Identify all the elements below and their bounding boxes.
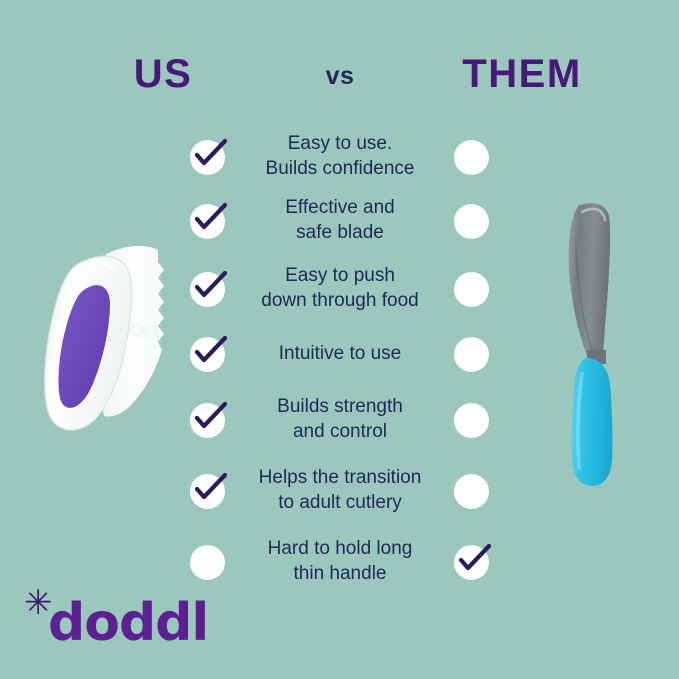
doddl-logo: ✳ doddl <box>18 590 198 656</box>
them-mark-cell <box>449 133 495 179</box>
mark-circle <box>190 337 225 372</box>
table-row: Helps the transition to adult cutlery <box>185 454 495 526</box>
doddl-knife-image <box>42 236 194 462</box>
mark-circle <box>454 204 489 239</box>
mark-circle <box>190 545 225 580</box>
competitor-knife-image <box>540 198 660 498</box>
mark-circle <box>190 204 225 239</box>
mark-circle <box>454 272 489 307</box>
row-label: Easy to push down through food <box>231 263 449 313</box>
mark-circle <box>454 337 489 372</box>
row-label: Effective and safe blade <box>231 195 449 245</box>
table-row: Easy to push down through food <box>185 254 495 322</box>
logo-wordmark: doddl <box>48 592 208 654</box>
mark-circle <box>190 140 225 175</box>
row-label: Helps the transition to adult cutlery <box>231 465 449 515</box>
them-mark-cell <box>449 330 495 376</box>
them-mark-cell <box>449 396 495 442</box>
row-label: Hard to hold long thin handle <box>231 536 449 586</box>
us-mark-cell <box>185 467 231 513</box>
table-row: Hard to hold long thin handle <box>185 526 495 596</box>
heading-us: US <box>118 48 208 100</box>
comparison-infographic: US vs THEM Easy to use. Builds confidenc… <box>0 0 679 679</box>
headings-row: US vs THEM <box>0 48 679 104</box>
comparison-table: Easy to use. Builds confidence Effective… <box>185 126 495 596</box>
mark-circle <box>190 403 225 438</box>
row-label: Intuitive to use <box>231 341 449 366</box>
table-row: Easy to use. Builds confidence <box>185 126 495 186</box>
mark-circle <box>454 545 489 580</box>
row-label: Builds strength and control <box>231 394 449 444</box>
table-row: Intuitive to use <box>185 322 495 384</box>
table-row: Builds strength and control <box>185 384 495 454</box>
us-mark-cell <box>185 538 231 584</box>
heading-them: THEM <box>452 48 592 100</box>
mark-circle <box>190 474 225 509</box>
us-mark-cell <box>185 133 231 179</box>
mark-circle <box>454 403 489 438</box>
table-row: Effective and safe blade <box>185 186 495 254</box>
them-mark-cell <box>449 197 495 243</box>
mark-circle <box>454 140 489 175</box>
them-mark-cell <box>449 538 495 584</box>
them-mark-cell <box>449 467 495 513</box>
heading-vs: vs <box>295 54 385 98</box>
row-label: Easy to use. Builds confidence <box>231 131 449 181</box>
mark-circle <box>190 272 225 307</box>
mark-circle <box>454 474 489 509</box>
them-mark-cell <box>449 265 495 311</box>
competitor-blade <box>569 203 610 358</box>
